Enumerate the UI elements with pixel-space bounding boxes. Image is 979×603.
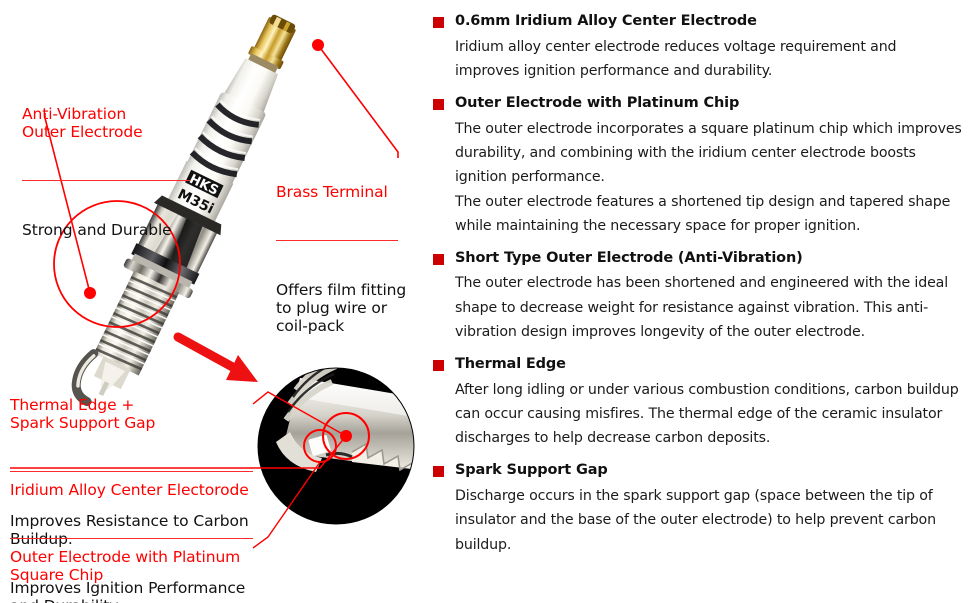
callout-anti-vibration-description: Strong and Durable <box>22 221 190 239</box>
callout-outer-electrode-platinum-title: Outer Electrode with Platinum Square Chi… <box>10 548 261 585</box>
feature-title: Short Type Outer Electrode (Anti-Vibrati… <box>455 249 803 268</box>
red-square-bullet-icon <box>433 360 444 371</box>
callout-anti-vibration: Anti-Vibration Outer Electrode Strong an… <box>22 67 190 277</box>
callout-brass-terminal-title: Brass Terminal <box>276 183 406 201</box>
callout-brass-terminal: Brass Terminal Offers film fitting to pl… <box>276 145 406 373</box>
feature-paragraph: Iridium alloy center electrode reduces v… <box>455 35 965 84</box>
feature-paragraph: The outer electrode has been shortened a… <box>455 271 965 344</box>
feature-item: Thermal Edge After long idling or under … <box>430 355 965 451</box>
feature-list: 0.6mm Iridium Alloy Center Electrode Iri… <box>430 0 979 603</box>
feature-body: The outer electrode incorporates a squar… <box>430 117 965 239</box>
feature-body: Discharge occurs in the spark support ga… <box>430 484 965 557</box>
spark-plug-illustration-panel: HKS M35i <box>0 0 420 603</box>
callout-anti-vibration-title: Anti-Vibration Outer Electrode <box>22 105 190 142</box>
callout-brass-terminal-rule <box>276 240 398 241</box>
callout-thermal-edge-spark-gap-title: Thermal Edge + Spark Support Gap <box>10 396 253 433</box>
feature-title: Spark Support Gap <box>455 461 608 480</box>
feature-heading: Thermal Edge <box>430 355 965 374</box>
feature-paragraph: The outer electrode features a shortened… <box>455 190 965 239</box>
feature-body: After long idling or under various combu… <box>430 378 965 451</box>
callout-iridium-center-electrode-title: Iridium Alloy Center Electorode <box>10 481 253 499</box>
feature-title: Thermal Edge <box>455 355 566 374</box>
red-square-bullet-icon <box>433 254 444 265</box>
red-square-bullet-icon <box>433 466 444 477</box>
feature-heading: 0.6mm Iridium Alloy Center Electrode <box>430 12 965 31</box>
spark-plug-feature-diagram: HKS M35i <box>0 0 979 603</box>
callout-brass-terminal-description: Offers film fitting to plug wire or coil… <box>276 281 406 336</box>
feature-item: Spark Support Gap Discharge occurs in th… <box>430 461 965 557</box>
feature-body: Iridium alloy center electrode reduces v… <box>430 35 965 84</box>
feature-paragraph: The outer electrode incorporates a squar… <box>455 117 965 190</box>
feature-paragraph: After long idling or under various combu… <box>455 378 965 451</box>
magnified-detail-inset <box>258 356 420 524</box>
callout-outer-electrode-platinum: Outer Electrode with Platinum Square Chi… <box>10 510 261 603</box>
feature-heading: Short Type Outer Electrode (Anti-Vibrati… <box>430 249 965 268</box>
feature-heading: Outer Electrode with Platinum Chip <box>430 94 965 113</box>
feature-item: Short Type Outer Electrode (Anti-Vibrati… <box>430 249 965 345</box>
red-square-bullet-icon <box>433 99 444 110</box>
feature-title: Outer Electrode with Platinum Chip <box>455 94 739 113</box>
feature-title: 0.6mm Iridium Alloy Center Electrode <box>455 12 757 31</box>
feature-paragraph: Discharge occurs in the spark support ga… <box>455 484 965 557</box>
feature-item: Outer Electrode with Platinum Chip The o… <box>430 94 965 239</box>
feature-heading: Spark Support Gap <box>430 461 965 480</box>
feature-body: The outer electrode has been shortened a… <box>430 271 965 344</box>
feature-item: 0.6mm Iridium Alloy Center Electrode Iri… <box>430 12 965 84</box>
red-square-bullet-icon <box>433 17 444 28</box>
callout-anti-vibration-rule <box>22 180 190 181</box>
